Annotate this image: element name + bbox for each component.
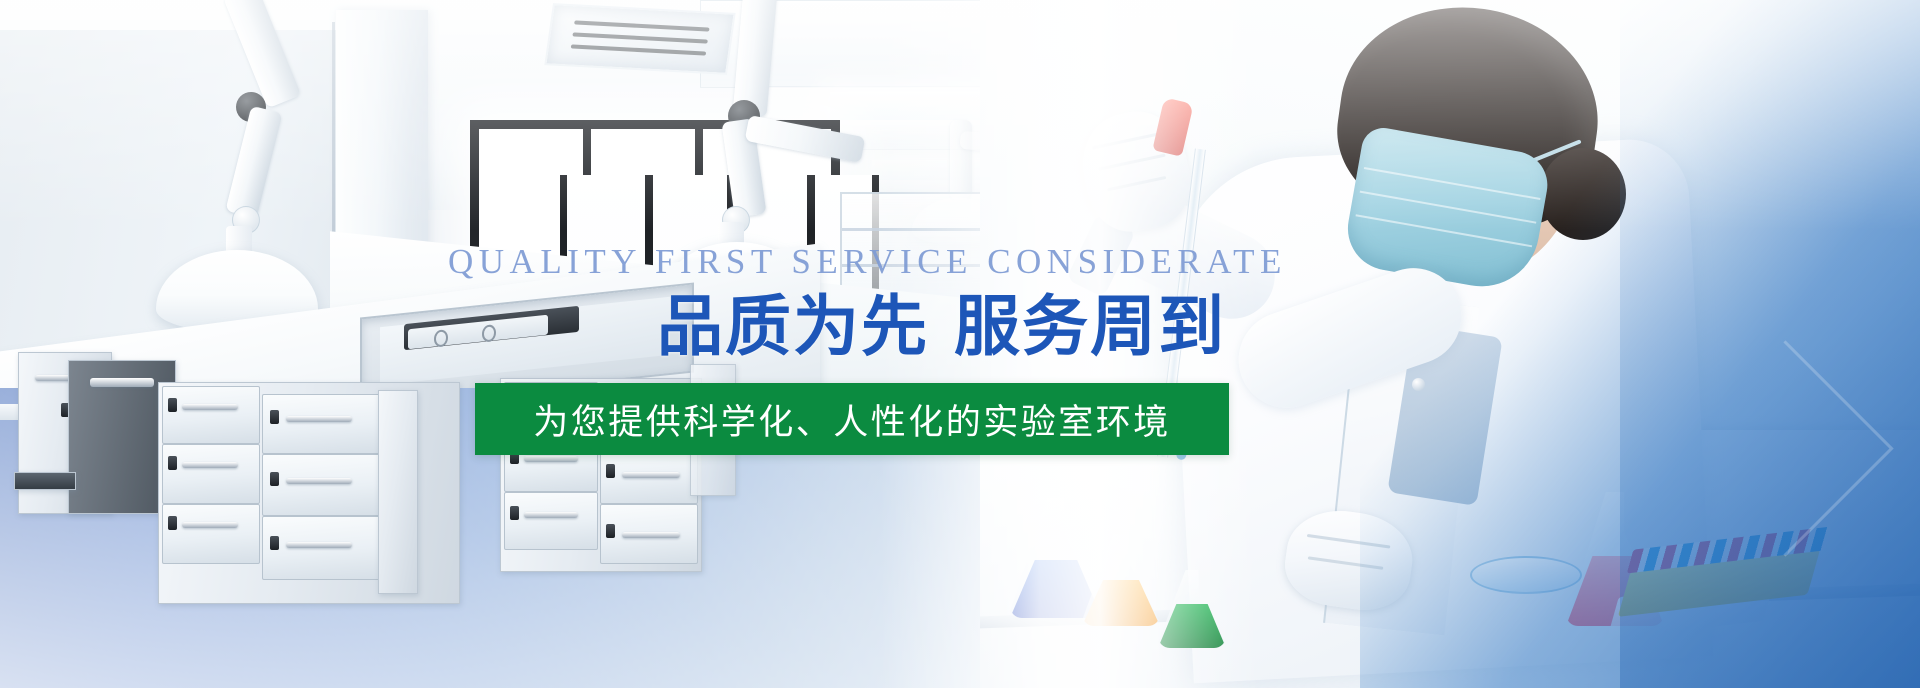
cabinet-handle <box>90 378 154 387</box>
ceiling-ac-vent <box>544 3 735 75</box>
hero-banner: QUALITY FIRST SERVICE CONSIDERATE 品质为先 服… <box>0 0 1920 688</box>
cabinet-drawer <box>162 444 260 504</box>
cabinet-plinth <box>14 472 76 490</box>
banner-text-block: QUALITY FIRST SERVICE CONSIDERATE 品质为先 服… <box>448 243 1248 363</box>
banner-headline: 品质为先 服务周到 <box>448 290 1248 364</box>
petri-dish <box>1470 556 1582 594</box>
cabinet-side-panel <box>378 390 418 594</box>
shirt-button <box>1412 378 1425 391</box>
banner-tagline-bar: 为您提供科学化、人性化的实验室环境 <box>475 383 1229 455</box>
cabinet-drawer <box>262 394 382 454</box>
cabinet-drawer <box>504 492 598 550</box>
cabinet-drawer <box>262 516 382 580</box>
hair-bun <box>1540 148 1626 240</box>
banner-eyebrow-text: QUALITY FIRST SERVICE CONSIDERATE <box>448 243 1248 282</box>
cabinet-drawer <box>162 386 260 444</box>
cabinet-drawer <box>162 504 260 564</box>
banner-tagline-text: 为您提供科学化、人性化的实验室环境 <box>533 394 1171 445</box>
cabinet-drawer <box>262 454 382 516</box>
